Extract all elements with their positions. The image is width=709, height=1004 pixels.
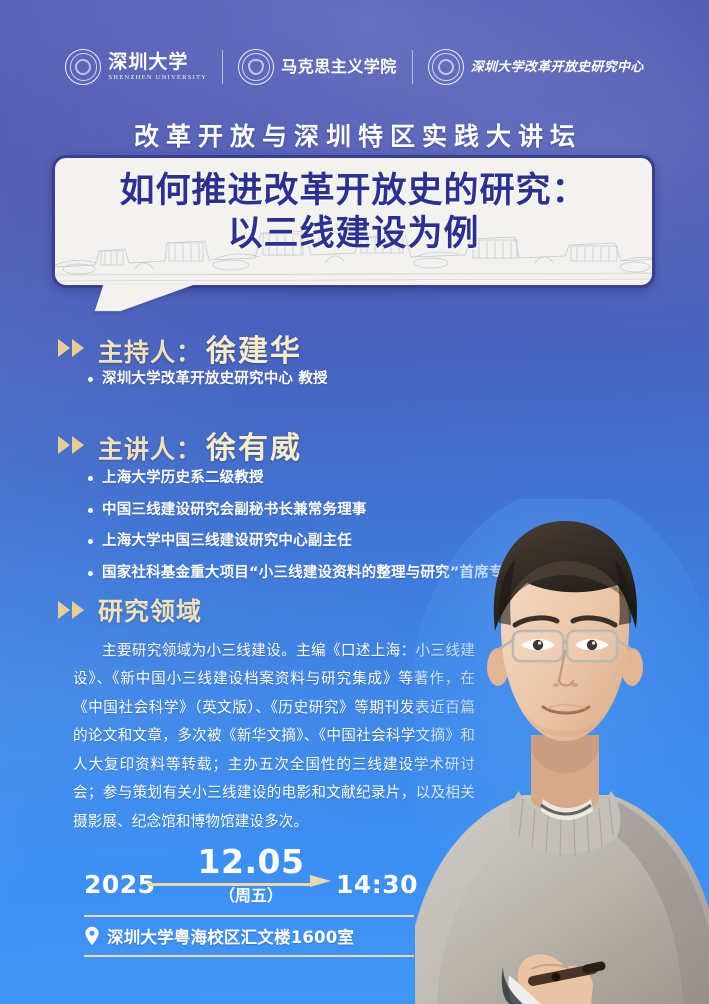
speech-bubble-tail <box>95 285 193 311</box>
double-arrow-icon <box>58 601 88 620</box>
double-arrow-icon <box>58 436 88 455</box>
list-item: 深圳大学改革开放史研究中心 教授 <box>88 372 328 387</box>
host-role-label: 主持人： <box>98 338 202 367</box>
location-pin-icon <box>84 926 100 946</box>
logo-marxism-school: 马克思主义学院 <box>238 49 397 85</box>
venue-block: 深圳大学粤海校区汇文楼1600室 <box>84 915 414 957</box>
host-heading-label: 主持人：徐建华 <box>98 326 302 370</box>
logo-text-block: 马克思主义学院 <box>281 59 397 75</box>
lecture-title-line1: 如何推进改革开放史的研究： <box>119 171 587 211</box>
marxism-school-seal-icon <box>238 49 274 85</box>
schedule-month-day: 12.05 <box>186 842 316 881</box>
logo-cn-name: 深圳大学 <box>108 53 207 72</box>
host-heading: 主持人：徐建华 <box>58 326 302 370</box>
speaker-heading-label: 主讲人：徐有威 <box>98 423 302 467</box>
logo-text-block: 深圳大学 SHENZHEN UNIVERSITY <box>108 53 207 82</box>
logo-divider-1 <box>222 50 223 84</box>
list-item: 上海大学历史系二级教授 <box>88 471 518 486</box>
series-banner: 改革开放与深圳特区实践大讲坛 <box>0 117 709 153</box>
schedule-year: 2025 <box>84 870 156 899</box>
arrow-right-icon <box>310 875 331 887</box>
title-card: 如何推进改革开放史的研究： 以三线建设为例 <box>52 155 655 288</box>
logo-divider-2 <box>412 50 413 84</box>
lecture-title: 如何推进改革开放史的研究： 以三线建设为例 <box>55 158 652 256</box>
logo-bar: 深圳大学 SHENZHEN UNIVERSITY 马克思主义学院 深圳大学改革开… <box>0 44 709 90</box>
host-name: 徐建华 <box>206 334 302 369</box>
logo-reform-history-center: 深圳大学改革开放史研究中心 <box>428 49 644 85</box>
logo-cn-name: 马克思主义学院 <box>281 59 397 75</box>
schedule-day-of-week: （周五） <box>186 882 316 906</box>
logo-en-name: SHENZHEN UNIVERSITY <box>108 75 207 82</box>
speaker-portrait <box>415 499 709 1004</box>
poster-root: 深圳大学 SHENZHEN UNIVERSITY 马克思主义学院 深圳大学改革开… <box>0 0 709 1004</box>
research-heading-label: 研究领域 <box>98 592 202 628</box>
speaker-name: 徐有威 <box>206 431 302 466</box>
logo-cn-name: 深圳大学改革开放史研究中心 <box>471 61 644 74</box>
schedule-rule <box>147 883 313 886</box>
portrait-illustration <box>415 499 709 1004</box>
logo-shenzhen-university: 深圳大学 SHENZHEN UNIVERSITY <box>65 49 207 85</box>
schedule-block: 2025 12.05 （周五） 14:30 <box>84 856 414 904</box>
venue-text: 深圳大学粤海校区汇文楼1600室 <box>107 924 354 948</box>
lecture-title-line2: 以三线建设为例 <box>55 213 652 256</box>
reform-history-center-seal-icon <box>428 49 464 85</box>
schedule-time: 14:30 <box>336 870 418 899</box>
speaker-role-label: 主讲人： <box>98 435 202 464</box>
speaker-heading: 主讲人：徐有威 <box>58 423 302 467</box>
host-credentials-list: 深圳大学改革开放史研究中心 教授 <box>88 372 328 404</box>
double-arrow-icon <box>58 339 88 358</box>
logo-text-block: 深圳大学改革开放史研究中心 <box>471 61 644 74</box>
shenzhen-university-seal-icon <box>65 49 101 85</box>
research-heading: 研究领域 <box>58 592 202 628</box>
